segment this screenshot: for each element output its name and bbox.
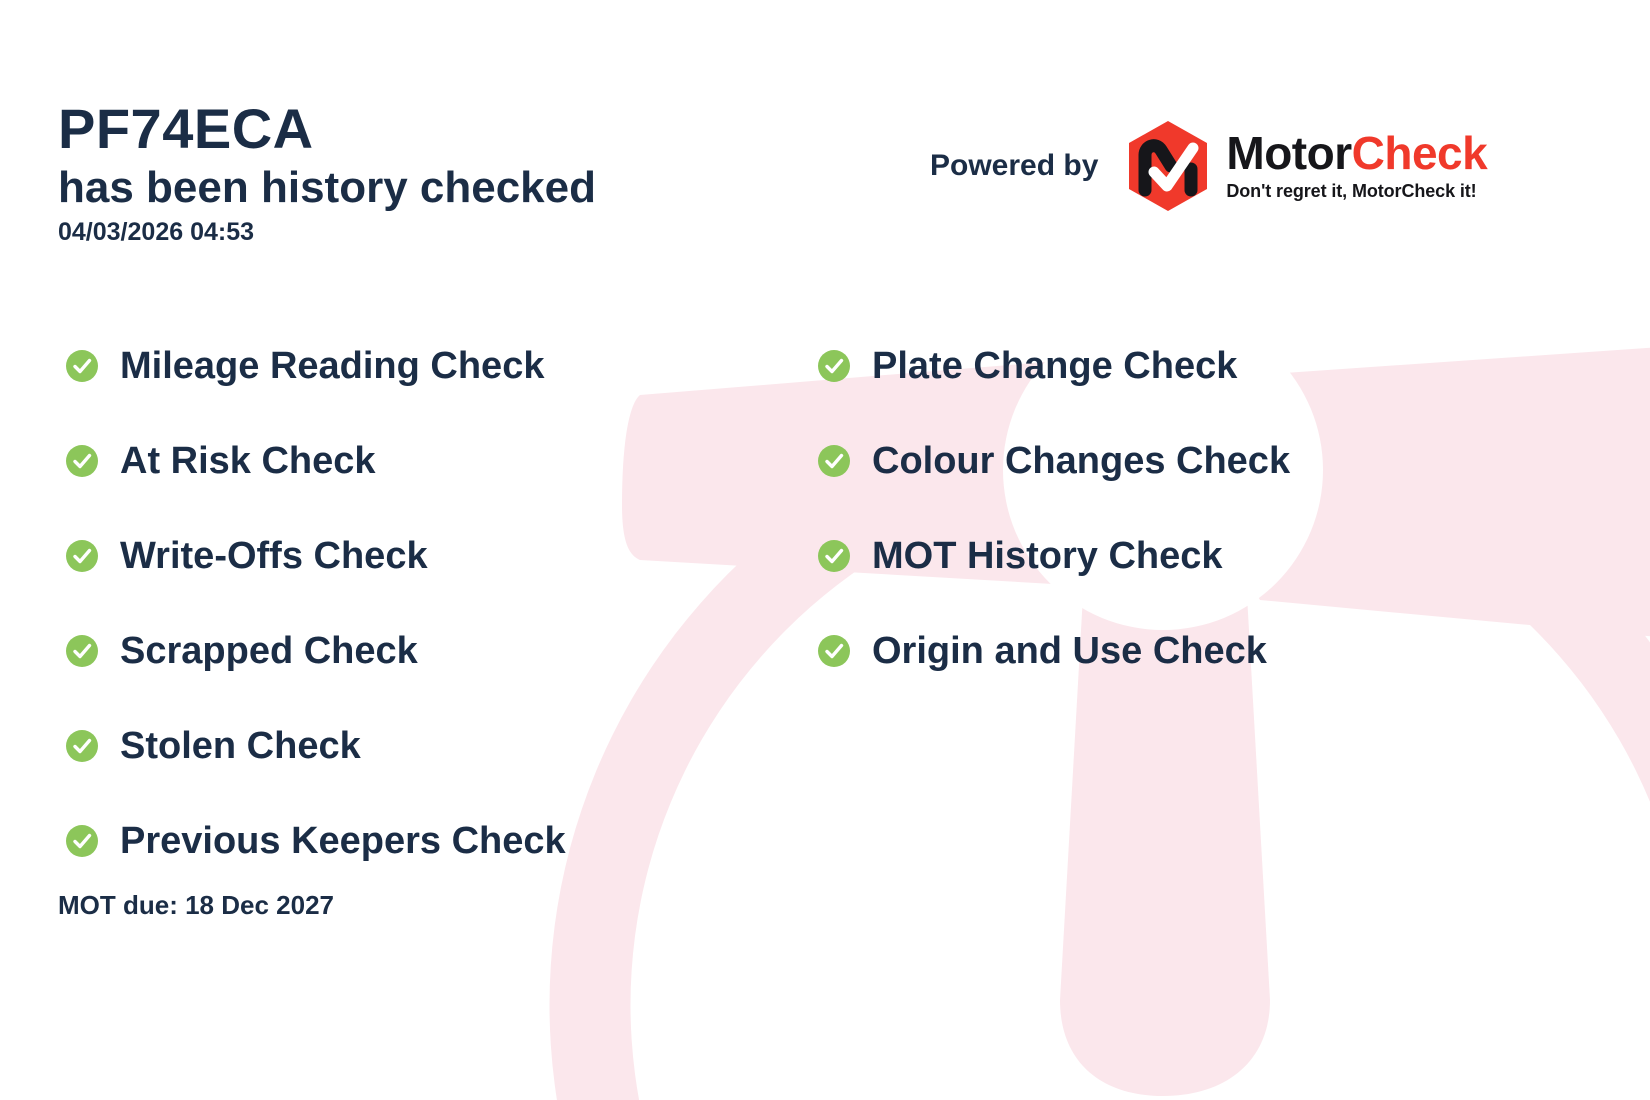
check-item-scrapped: Scrapped Check: [66, 603, 786, 698]
vehicle-history-check-card: PF74ECA has been history checked 04/03/2…: [0, 0, 1650, 1100]
check-label: Colour Changes Check: [872, 442, 1290, 480]
green-check-circle-icon: [66, 730, 98, 762]
check-label: Mileage Reading Check: [120, 347, 544, 385]
check-item-stolen: Stolen Check: [66, 698, 786, 793]
check-item-mileage-reading: Mileage Reading Check: [66, 318, 786, 413]
motorcheck-logo[interactable]: MotorCheck Don't regret it, MotorCheck i…: [1124, 120, 1487, 212]
green-check-circle-icon: [66, 350, 98, 382]
green-check-circle-icon: [66, 635, 98, 667]
green-check-circle-icon: [818, 540, 850, 572]
motorcheck-hexagon-m-tick-icon: [1124, 120, 1212, 212]
green-check-circle-icon: [818, 635, 850, 667]
check-item-previous-keepers: Previous Keepers Check: [66, 793, 786, 888]
registration-summary: PF74ECA has been history checked 04/03/2…: [58, 100, 596, 247]
check-label: Stolen Check: [120, 727, 361, 765]
check-label: Write-Offs Check: [120, 537, 428, 575]
logo-wordmark-block: MotorCheck Don't regret it, MotorCheck i…: [1226, 130, 1487, 202]
check-item-write-offs: Write-Offs Check: [66, 508, 786, 603]
check-item-plate-change: Plate Change Check: [818, 318, 1518, 413]
check-label: Previous Keepers Check: [120, 822, 566, 860]
green-check-circle-icon: [66, 445, 98, 477]
check-item-mot-history: MOT History Check: [818, 508, 1518, 603]
logo-word-motor: Motor: [1226, 127, 1351, 179]
checks-column-right: Plate Change Check Colour Changes Check …: [818, 318, 1518, 698]
logo-tagline: Don't regret it, MotorCheck it!: [1226, 181, 1487, 202]
powered-by-label: Powered by: [930, 149, 1098, 183]
checks-column-left: Mileage Reading Check At Risk Check Writ…: [66, 318, 786, 888]
check-label: MOT History Check: [872, 537, 1223, 575]
green-check-circle-icon: [818, 445, 850, 477]
check-timestamp: 04/03/2026 04:53: [58, 218, 596, 247]
check-label: Origin and Use Check: [872, 632, 1267, 670]
check-label: At Risk Check: [120, 442, 376, 480]
logo-wordmark: MotorCheck: [1226, 130, 1487, 176]
logo-word-check: Check: [1352, 127, 1488, 179]
check-item-at-risk: At Risk Check: [66, 413, 786, 508]
green-check-circle-icon: [66, 825, 98, 857]
mot-due-text: MOT due: 18 Dec 2027: [58, 890, 334, 921]
green-check-circle-icon: [818, 350, 850, 382]
check-label: Plate Change Check: [872, 347, 1237, 385]
page-title: has been history checked: [58, 163, 596, 212]
check-item-origin-and-use: Origin and Use Check: [818, 603, 1518, 698]
green-check-circle-icon: [66, 540, 98, 572]
registration-plate: PF74ECA: [58, 100, 596, 157]
check-item-colour-changes: Colour Changes Check: [818, 413, 1518, 508]
check-label: Scrapped Check: [120, 632, 418, 670]
powered-by-block: Powered by MotorCheck Don't regret it, M…: [930, 120, 1487, 212]
